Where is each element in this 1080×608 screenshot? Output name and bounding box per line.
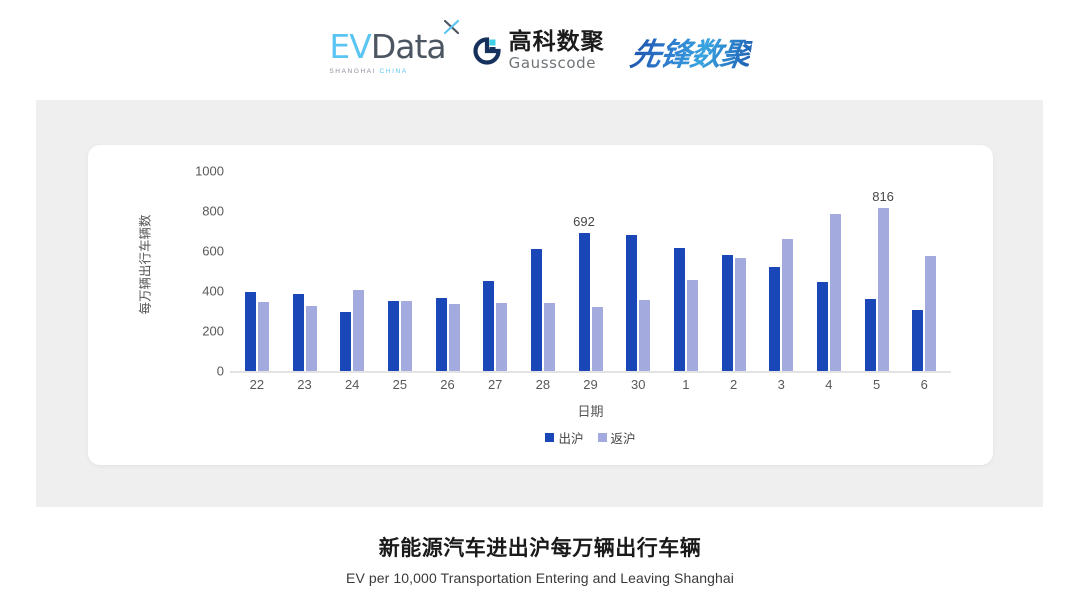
- bar-group[interactable]: [281, 171, 329, 371]
- x-axis-tick: 29: [567, 377, 615, 397]
- bar-group[interactable]: [376, 171, 424, 371]
- evdata-data-text: Data: [371, 27, 446, 66]
- bar-group[interactable]: [471, 171, 519, 371]
- x-axis-tick: 6: [900, 377, 948, 397]
- legend-swatch-icon: [545, 433, 554, 442]
- y-axis-tick: 0: [217, 364, 224, 379]
- x-axis-tick: 26: [424, 377, 472, 397]
- bar-groups: 692816: [233, 171, 948, 371]
- logo-strip: EV Data SHANGHAI CHINA: [0, 18, 1080, 84]
- bar-group[interactable]: [805, 171, 853, 371]
- bar-fanhu[interactable]: [830, 214, 841, 371]
- bar-chart: 每万辆出行车辆数 10008006004002000 692816 222324…: [88, 145, 993, 465]
- bar-group[interactable]: [328, 171, 376, 371]
- x-axis-tick: 3: [757, 377, 805, 397]
- bar-group[interactable]: [757, 171, 805, 371]
- bar-fanhu[interactable]: [639, 300, 650, 371]
- evdata-subtitle-country: CHINA: [380, 68, 408, 75]
- bar-chuhu[interactable]: [388, 301, 399, 371]
- bar-fanhu[interactable]: [687, 280, 698, 371]
- bar-chuhu[interactable]: [579, 233, 590, 371]
- bar-fanhu[interactable]: [782, 239, 793, 371]
- bar-value-label: 816: [872, 189, 894, 204]
- bar-group[interactable]: [424, 171, 472, 371]
- bar-group[interactable]: 816: [853, 171, 901, 371]
- bar-chuhu[interactable]: [769, 267, 780, 371]
- bar-fanhu[interactable]: [353, 290, 364, 371]
- y-axis-ticks: 10008006004002000: [186, 145, 224, 385]
- bar-group[interactable]: [519, 171, 567, 371]
- y-axis-tick: 600: [202, 244, 224, 259]
- bar-fanhu[interactable]: [401, 301, 412, 371]
- bar-fanhu[interactable]: [925, 256, 936, 371]
- evdata-subtitle-city: SHANGHAI: [329, 68, 379, 75]
- logo-xianfeng: 先锋数聚: [627, 29, 754, 74]
- bar-chuhu[interactable]: [340, 312, 351, 371]
- y-axis-tick: 200: [202, 324, 224, 339]
- chart-legend: 出沪返沪: [233, 428, 948, 447]
- bar-fanhu[interactable]: [449, 304, 460, 371]
- caption-subtitle-en: EV per 10,000 Transportation Entering an…: [0, 570, 1080, 586]
- caption-title-cn: 新能源汽车进出沪每万辆出行车辆: [0, 532, 1080, 562]
- legend-item-fanhu[interactable]: 返沪: [598, 428, 636, 447]
- bar-fanhu[interactable]: [592, 307, 603, 371]
- x-axis-tick: 28: [519, 377, 567, 397]
- bar-chuhu[interactable]: [817, 282, 828, 371]
- chart-card: 每万辆出行车辆数 10008006004002000 692816 222324…: [88, 145, 993, 465]
- bar-fanhu[interactable]: [878, 208, 889, 371]
- gausscode-name-en: Gausscode: [509, 56, 605, 71]
- x-axis-tick: 23: [281, 377, 329, 397]
- bar-chuhu[interactable]: [674, 248, 685, 371]
- evdata-subtitle: SHANGHAI CHINA: [329, 68, 407, 75]
- evdata-wordmark: EV Data: [329, 27, 445, 66]
- bar-chuhu[interactable]: [483, 281, 494, 371]
- x-axis-tick: 5: [853, 377, 901, 397]
- bar-chuhu[interactable]: [722, 255, 733, 371]
- logo-evdata: EV Data SHANGHAI CHINA: [329, 27, 445, 75]
- y-axis-tick: 1000: [195, 164, 224, 179]
- bar-chuhu[interactable]: [245, 292, 256, 371]
- legend-swatch-icon: [598, 433, 607, 442]
- bar-group[interactable]: 692: [567, 171, 615, 371]
- gausscode-circle-icon: [472, 36, 502, 66]
- bar-chuhu[interactable]: [293, 294, 304, 371]
- bar-chuhu[interactable]: [865, 299, 876, 371]
- gausscode-name-cn: 高科数聚: [509, 31, 605, 54]
- bar-chuhu[interactable]: [912, 310, 923, 371]
- bar-group[interactable]: [614, 171, 662, 371]
- logo-gausscode: 高科数聚 Gausscode: [472, 31, 605, 71]
- plot-area: 692816: [233, 171, 948, 371]
- legend-label: 出沪: [558, 428, 583, 447]
- bar-fanhu[interactable]: [258, 302, 269, 371]
- bar-fanhu[interactable]: [496, 303, 507, 371]
- bar-chuhu[interactable]: [531, 249, 542, 371]
- evdata-ev-text: EV: [329, 27, 370, 66]
- bar-group[interactable]: [900, 171, 948, 371]
- bar-chuhu[interactable]: [626, 235, 637, 371]
- y-axis-tick: 400: [202, 284, 224, 299]
- x-axis-tick: 1: [662, 377, 710, 397]
- bar-value-label: 692: [573, 214, 595, 229]
- legend-label: 返沪: [611, 428, 636, 447]
- x-axis-tick: 22: [233, 377, 281, 397]
- x-axis-title: 日期: [233, 401, 948, 420]
- x-axis-tick: 25: [376, 377, 424, 397]
- x-axis-tick: 24: [328, 377, 376, 397]
- slide-root: EV Data SHANGHAI CHINA: [0, 0, 1080, 608]
- bar-group[interactable]: [662, 171, 710, 371]
- bar-fanhu[interactable]: [544, 303, 555, 371]
- x-axis-tick: 2: [710, 377, 758, 397]
- bar-group[interactable]: [710, 171, 758, 371]
- x-axis-tick: 27: [471, 377, 519, 397]
- x-axis-tick: 30: [614, 377, 662, 397]
- x-axis-tick: 4: [805, 377, 853, 397]
- x-axis-ticks: 222324252627282930123456: [233, 377, 948, 397]
- x-axis-baseline: [230, 371, 951, 373]
- bar-chuhu[interactable]: [436, 298, 447, 371]
- bar-group[interactable]: [233, 171, 281, 371]
- bar-fanhu[interactable]: [735, 258, 746, 371]
- gausscode-text: 高科数聚 Gausscode: [509, 31, 605, 71]
- x-sparkle-icon: [442, 17, 462, 37]
- y-axis-title: 每万辆出行车辆数: [135, 185, 154, 345]
- y-axis-tick: 800: [202, 204, 224, 219]
- legend-item-chuhu[interactable]: 出沪: [545, 428, 583, 447]
- bar-fanhu[interactable]: [306, 306, 317, 371]
